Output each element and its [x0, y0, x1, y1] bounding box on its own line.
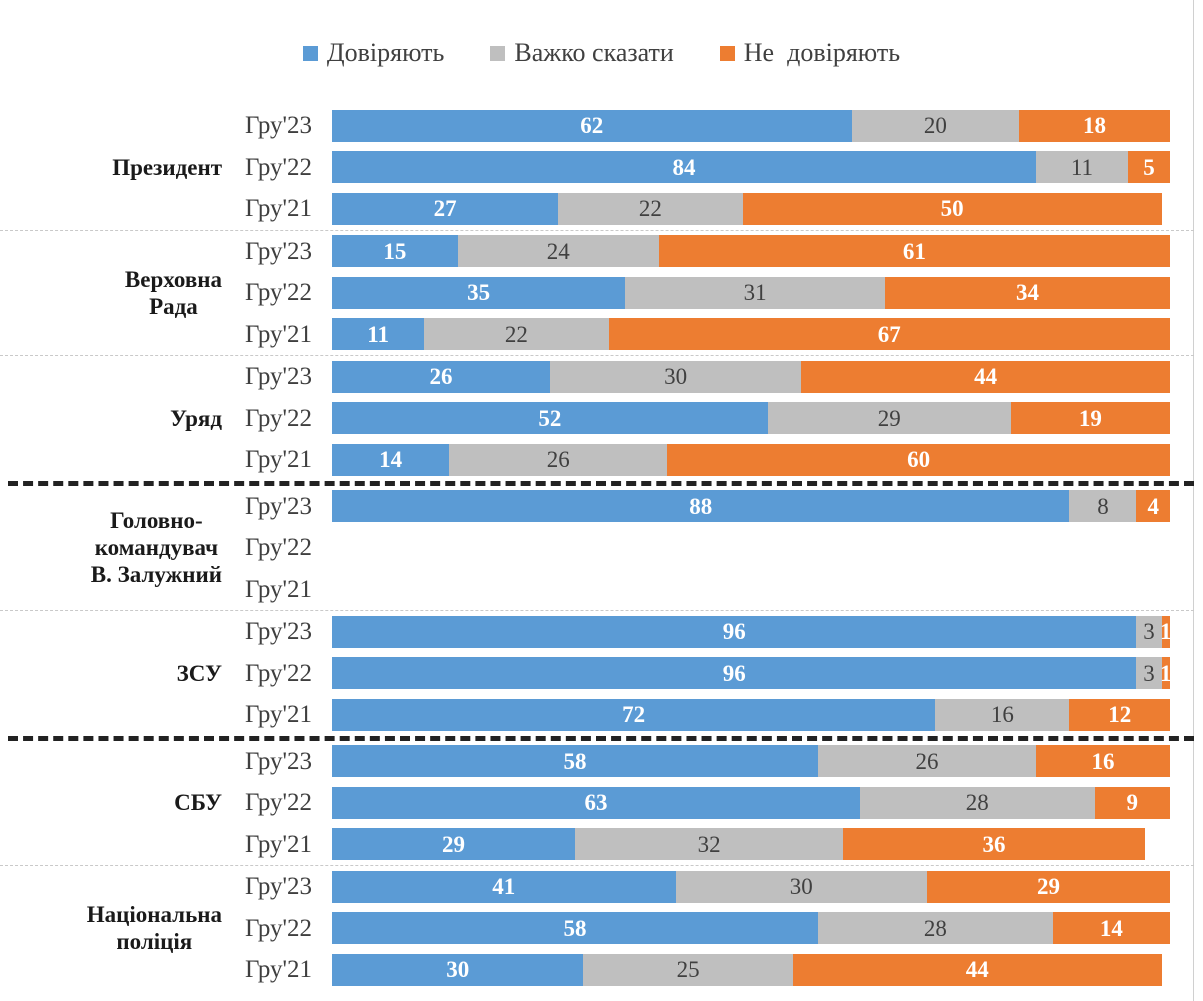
- bar-value-label: 19: [1079, 407, 1102, 430]
- period-label: Гру'21: [228, 447, 332, 472]
- bar-value-label: 58: [564, 750, 587, 773]
- period-label: Гру'22: [228, 535, 332, 560]
- chart-group: Головно- командувач В. ЗалужнийГру'23888…: [0, 486, 1203, 611]
- bar-segment-trust[interactable]: 58: [332, 912, 818, 944]
- bar-value-label: 26: [915, 750, 938, 773]
- bar-segment-trust[interactable]: 84: [332, 151, 1036, 183]
- group-rows: Гру'23622018Гру'2284115Гру'21272250: [228, 105, 1203, 230]
- bar-segment-trust[interactable]: 15: [332, 235, 458, 267]
- bar-segment-distrust[interactable]: 9: [1095, 787, 1170, 819]
- bar-value-label: 11: [1071, 156, 1093, 179]
- bar-segment-distrust[interactable]: 60: [667, 444, 1170, 476]
- legend-item-trust[interactable]: Довіряють: [303, 40, 445, 66]
- bar-segment-distrust[interactable]: 50: [743, 193, 1162, 225]
- category-label: Президент: [112, 154, 222, 181]
- bar-value-label: 12: [1108, 703, 1131, 726]
- chart-group: Верховна РадаГру'23152461Гру'22353134Гру…: [0, 231, 1203, 356]
- category-label: Головно- командувач В. Залужний: [91, 507, 222, 588]
- stacked-bar[interactable]: 142660: [332, 444, 1170, 476]
- bar-value-label: 44: [974, 365, 997, 388]
- bar-segment-distrust[interactable]: 61: [659, 235, 1170, 267]
- bar-segment-trust[interactable]: 35: [332, 277, 625, 309]
- bar-segment-hard[interactable]: 24: [458, 235, 659, 267]
- bar-segment-trust[interactable]: 26: [332, 361, 550, 393]
- period-label: Гру'23: [228, 239, 332, 264]
- bar-value-label: 62: [580, 114, 603, 137]
- chart-group: СБУГру'23582616Гру'2263289Гру'21293236: [0, 741, 1203, 866]
- bar-value-label: 61: [903, 240, 926, 263]
- stacked-bar-chart: ДовіряютьВажко сказатиНе довіряють Прези…: [0, 0, 1203, 1001]
- bar-value-label: 35: [467, 281, 490, 304]
- bar-value-label: 58: [564, 917, 587, 940]
- bar-segment-trust[interactable]: 52: [332, 402, 768, 434]
- legend-item-distrust[interactable]: Не довіряють: [720, 40, 900, 66]
- bar-value-label: 4: [1147, 495, 1159, 518]
- chart-row: Гру'21142660: [228, 439, 1203, 481]
- bar-value-label: 15: [383, 240, 406, 263]
- bar-value-label: 14: [379, 448, 402, 471]
- category-label: Уряд: [170, 405, 222, 432]
- bar-value-label: 9: [1127, 791, 1139, 814]
- bar-value-label: 41: [492, 875, 515, 898]
- legend-swatch-hard-icon: [490, 46, 505, 61]
- bar-segment-hard[interactable]: 11: [1036, 151, 1128, 183]
- bar-segment-trust[interactable]: 96: [332, 616, 1136, 648]
- period-label: Гру'22: [228, 155, 332, 180]
- bar-segment-distrust[interactable]: 4: [1136, 490, 1170, 522]
- bar-value-label: 50: [941, 197, 964, 220]
- legend-swatch-trust-icon: [303, 46, 318, 61]
- stacked-bar[interactable]: [332, 532, 1170, 564]
- bar-value-label: 60: [907, 448, 930, 471]
- stacked-bar[interactable]: 112267: [332, 318, 1170, 350]
- bar-segment-trust[interactable]: 14: [332, 444, 449, 476]
- group-rows: Гру'23582616Гру'2263289Гру'21293236: [228, 741, 1203, 866]
- bar-segment-hard[interactable]: 26: [818, 745, 1036, 777]
- bar-segment-hard[interactable]: 26: [449, 444, 667, 476]
- bar-segment-distrust[interactable]: 67: [609, 318, 1170, 350]
- chart-row: Гру'21: [228, 569, 1203, 611]
- stacked-bar[interactable]: 8884: [332, 490, 1170, 522]
- bar-segment-hard[interactable]: 32: [575, 828, 843, 860]
- stacked-bar[interactable]: 622018: [332, 110, 1170, 142]
- stacked-bar[interactable]: 152461: [332, 235, 1170, 267]
- bar-value-label: 96: [723, 620, 746, 643]
- bar-segment-hard[interactable]: 25: [583, 954, 793, 986]
- bar-segment-distrust[interactable]: 29: [927, 871, 1170, 903]
- stacked-bar[interactable]: 582616: [332, 745, 1170, 777]
- bar-value-label: 16: [991, 703, 1014, 726]
- stacked-bar[interactable]: 522919: [332, 402, 1170, 434]
- chart-row: Гру'22582814: [228, 908, 1203, 950]
- period-label: Гру'21: [228, 196, 332, 221]
- stacked-bar[interactable]: 721612: [332, 699, 1170, 731]
- bar-segment-hard[interactable]: 30: [550, 361, 801, 393]
- chart-row: Гру'23622018: [228, 105, 1203, 147]
- bar-segment-distrust[interactable]: 5: [1128, 151, 1170, 183]
- bar-value-label: 14: [1100, 917, 1123, 940]
- period-label: Гру'23: [228, 874, 332, 899]
- chart-group: ЗСУГру'239631Гру'229631Гру'21721612: [0, 611, 1203, 736]
- bar-segment-distrust[interactable]: 12: [1069, 699, 1170, 731]
- chart-row: Гру'2263289: [228, 782, 1203, 824]
- bar-segment-trust[interactable]: 30: [332, 954, 583, 986]
- bar-segment-hard[interactable]: 29: [768, 402, 1011, 434]
- bar-value-label: 16: [1091, 750, 1114, 773]
- chart-groups-container: ПрезидентГру'23622018Гру'2284115Гру'2127…: [0, 105, 1203, 991]
- bar-segment-trust[interactable]: 63: [332, 787, 860, 819]
- chart-row: Гру'23582616: [228, 741, 1203, 783]
- category-label-cell: ЗСУ: [0, 611, 228, 736]
- bar-segment-distrust[interactable]: 14: [1053, 912, 1170, 944]
- chart-row: Гру'21293236: [228, 824, 1203, 866]
- bar-segment-hard[interactable]: 31: [625, 277, 885, 309]
- chart-group: Національна поліціяГру'23413029Гру'22582…: [0, 866, 1203, 991]
- period-label: Гру'21: [228, 832, 332, 857]
- bar-value-label: 3: [1143, 620, 1155, 643]
- stacked-bar[interactable]: 302544: [332, 954, 1170, 986]
- bar-segment-distrust[interactable]: 19: [1011, 402, 1170, 434]
- bar-value-label: 5: [1143, 156, 1155, 179]
- bar-value-label: 28: [924, 917, 947, 940]
- bar-value-label: 3: [1143, 662, 1155, 685]
- bar-value-label: 52: [538, 407, 561, 430]
- bar-value-label: 29: [1037, 875, 1060, 898]
- bar-segment-hard[interactable]: 8: [1069, 490, 1136, 522]
- bar-value-label: 25: [677, 958, 700, 981]
- bar-value-label: 88: [689, 495, 712, 518]
- stacked-bar[interactable]: 272250: [332, 193, 1170, 225]
- bar-segment-distrust[interactable]: 36: [843, 828, 1145, 860]
- chart-row: Гру'23413029: [228, 866, 1203, 908]
- chart-row: Гру'21721612: [228, 694, 1203, 736]
- stacked-bar[interactable]: 353134: [332, 277, 1170, 309]
- bar-segment-hard[interactable]: 28: [860, 787, 1095, 819]
- bar-value-label: 8: [1097, 495, 1109, 518]
- category-label-cell: СБУ: [0, 741, 228, 866]
- chart-row: Гру'22353134: [228, 272, 1203, 314]
- bar-value-label: 18: [1083, 114, 1106, 137]
- bar-segment-distrust[interactable]: 44: [793, 954, 1162, 986]
- bar-segment-distrust[interactable]: 16: [1036, 745, 1170, 777]
- legend-label: Не довіряють: [744, 40, 900, 66]
- period-label: Гру'22: [228, 790, 332, 815]
- chart-group: УрядГру'23263044Гру'22522919Гру'21142660: [0, 356, 1203, 481]
- bar-segment-trust[interactable]: 58: [332, 745, 818, 777]
- category-label-cell: Уряд: [0, 356, 228, 481]
- group-rows: Гру'23263044Гру'22522919Гру'21142660: [228, 356, 1203, 481]
- period-label: Гру'22: [228, 406, 332, 431]
- stacked-bar[interactable]: 413029: [332, 871, 1170, 903]
- bar-value-label: 96: [723, 662, 746, 685]
- bar-segment-hard[interactable]: 16: [935, 699, 1069, 731]
- bar-value-label: 26: [429, 365, 452, 388]
- bar-segment-trust[interactable]: 29: [332, 828, 575, 860]
- bar-value-label: 30: [664, 365, 687, 388]
- period-label: Гру'21: [228, 702, 332, 727]
- bar-segment-distrust[interactable]: 34: [885, 277, 1170, 309]
- stacked-bar[interactable]: 582814: [332, 912, 1170, 944]
- category-label: Національна поліція: [87, 901, 222, 955]
- bar-segment-trust[interactable]: 72: [332, 699, 935, 731]
- bar-value-label: 29: [442, 833, 465, 856]
- stacked-bar[interactable]: [332, 573, 1170, 605]
- bar-segment-hard[interactable]: 20: [852, 110, 1020, 142]
- stacked-bar[interactable]: 84115: [332, 151, 1170, 183]
- bar-segment-distrust[interactable]: 44: [801, 361, 1170, 393]
- bar-value-label: 26: [547, 448, 570, 471]
- bar-value-label: 32: [698, 833, 721, 856]
- bar-value-label: 22: [505, 323, 528, 346]
- bar-segment-trust[interactable]: 27: [332, 193, 558, 225]
- bar-value-label: 31: [744, 281, 767, 304]
- stacked-bar[interactable]: 9631: [332, 657, 1170, 689]
- bar-value-label: 36: [983, 833, 1006, 856]
- bar-segment-hard[interactable]: 3: [1136, 657, 1161, 689]
- legend-item-hard[interactable]: Важко сказати: [490, 40, 673, 66]
- period-label: Гру'23: [228, 494, 332, 519]
- period-label: Гру'22: [228, 280, 332, 305]
- bar-value-label: 28: [966, 791, 989, 814]
- legend-label: Довіряють: [327, 40, 445, 66]
- period-label: Гру'23: [228, 364, 332, 389]
- period-label: Гру'22: [228, 916, 332, 941]
- bar-value-label: 1: [1160, 620, 1172, 643]
- bar-value-label: 20: [924, 114, 947, 137]
- bar-value-label: 30: [446, 958, 469, 981]
- group-rows: Гру'239631Гру'229631Гру'21721612: [228, 611, 1203, 736]
- legend-label: Важко сказати: [514, 40, 673, 66]
- category-label-cell: Верховна Рада: [0, 231, 228, 356]
- stacked-bar[interactable]: 9631: [332, 616, 1170, 648]
- bar-value-label: 24: [547, 240, 570, 263]
- bar-segment-trust[interactable]: 88: [332, 490, 1069, 522]
- bar-segment-trust[interactable]: 41: [332, 871, 676, 903]
- category-label-cell: Президент: [0, 105, 228, 230]
- bar-value-label: 29: [878, 407, 901, 430]
- chart-row: Гру'229631: [228, 653, 1203, 695]
- chart-group: ПрезидентГру'23622018Гру'2284115Гру'2127…: [0, 105, 1203, 230]
- category-label: Верховна Рада: [125, 266, 222, 320]
- legend-swatch-distrust-icon: [720, 46, 735, 61]
- category-label-cell: Національна поліція: [0, 866, 228, 991]
- stacked-bar[interactable]: 293236: [332, 828, 1170, 860]
- bar-value-label: 27: [434, 197, 457, 220]
- bar-segment-trust[interactable]: 96: [332, 657, 1136, 689]
- bar-value-label: 22: [639, 197, 662, 220]
- chart-row: Гру'21302544: [228, 949, 1203, 991]
- group-rows: Гру'23413029Гру'22582814Гру'21302544: [228, 866, 1203, 991]
- bar-segment-trust[interactable]: 11: [332, 318, 424, 350]
- chart-row: Гру'23263044: [228, 356, 1203, 398]
- bar-segment-hard[interactable]: 22: [558, 193, 742, 225]
- bar-segment-hard[interactable]: 30: [676, 871, 927, 903]
- bar-segment-distrust[interactable]: 18: [1019, 110, 1170, 142]
- period-label: Гру'21: [228, 577, 332, 602]
- bar-segment-hard[interactable]: 22: [424, 318, 608, 350]
- period-label: Гру'22: [228, 661, 332, 686]
- chart-row: Гру'21272250: [228, 188, 1203, 230]
- group-rows: Гру'238884Гру'22Гру'21: [228, 486, 1203, 611]
- chart-row: Гру'22: [228, 527, 1203, 569]
- stacked-bar[interactable]: 263044: [332, 361, 1170, 393]
- chart-legend: ДовіряютьВажко сказатиНе довіряють: [0, 40, 1203, 66]
- category-label: СБУ: [174, 789, 222, 816]
- bar-segment-trust[interactable]: 62: [332, 110, 852, 142]
- chart-row: Гру'22522919: [228, 398, 1203, 440]
- bar-value-label: 34: [1016, 281, 1039, 304]
- bar-value-label: 30: [790, 875, 813, 898]
- bar-segment-distrust[interactable]: 1: [1162, 657, 1170, 689]
- category-label: ЗСУ: [177, 660, 222, 687]
- group-rows: Гру'23152461Гру'22353134Гру'21112267: [228, 231, 1203, 356]
- bar-segment-hard[interactable]: 3: [1136, 616, 1161, 648]
- chart-row: Гру'239631: [228, 611, 1203, 653]
- period-label: Гру'23: [228, 113, 332, 138]
- bar-value-label: 63: [584, 791, 607, 814]
- chart-row: Гру'238884: [228, 486, 1203, 528]
- bar-value-label: 72: [622, 703, 645, 726]
- bar-segment-distrust[interactable]: 1: [1162, 616, 1170, 648]
- bar-value-label: 1: [1160, 662, 1172, 685]
- period-label: Гру'23: [228, 619, 332, 644]
- chart-row: Гру'21112267: [228, 314, 1203, 356]
- stacked-bar[interactable]: 63289: [332, 787, 1170, 819]
- chart-row: Гру'23152461: [228, 231, 1203, 273]
- chart-row: Гру'2284115: [228, 147, 1203, 189]
- bar-value-label: 44: [966, 958, 989, 981]
- bar-value-label: 84: [672, 156, 695, 179]
- bar-value-label: 11: [367, 323, 389, 346]
- period-label: Гру'21: [228, 957, 332, 982]
- bar-segment-hard[interactable]: 28: [818, 912, 1053, 944]
- category-label-cell: Головно- командувач В. Залужний: [0, 486, 228, 611]
- period-label: Гру'21: [228, 322, 332, 347]
- period-label: Гру'23: [228, 749, 332, 774]
- bar-value-label: 67: [878, 323, 901, 346]
